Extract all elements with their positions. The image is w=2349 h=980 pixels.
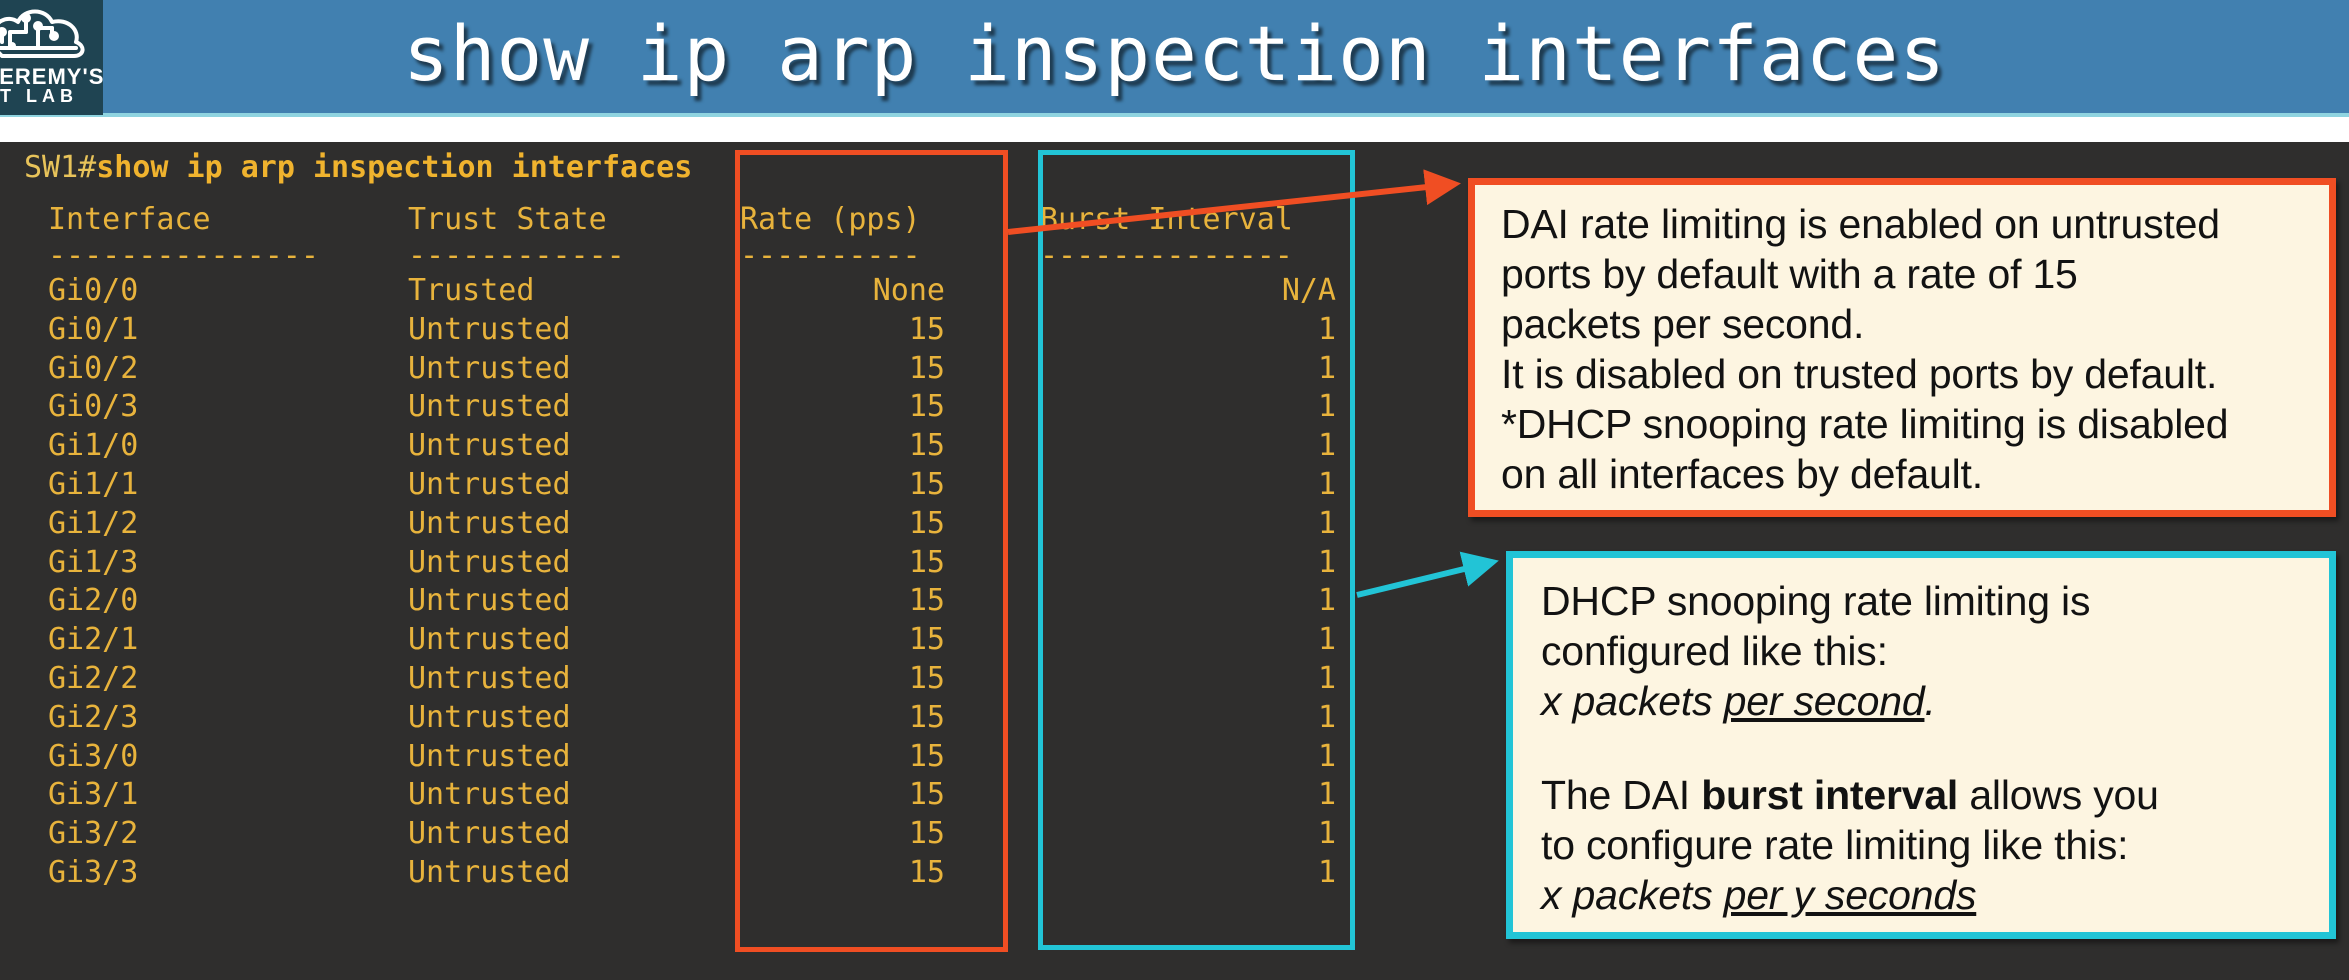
cell-interface: Gi0/3 bbox=[48, 392, 348, 422]
callout-dai-line-3: packets per second. bbox=[1501, 299, 2305, 349]
cell-rate-pps: 15 bbox=[740, 548, 945, 578]
cell-burst-interval: 1 bbox=[1040, 431, 1336, 461]
cell-burst-interval: 1 bbox=[1040, 586, 1336, 616]
callout-dai-rate-limiting: DAI rate limiting is enabled on untruste… bbox=[1468, 178, 2336, 517]
cell-burst-interval: N/A bbox=[1040, 276, 1336, 306]
column-header-interface: Interface bbox=[48, 202, 348, 237]
callout-dhcp-line-3-prefix: x packets bbox=[1541, 678, 1724, 724]
cell-burst-interval: 1 bbox=[1040, 819, 1336, 849]
callout-dhcp-line-3-suffix: . bbox=[1924, 678, 1935, 724]
cell-interface: Gi3/3 bbox=[48, 858, 348, 888]
cell-rate-pps: 15 bbox=[740, 742, 945, 772]
cell-interface: Gi3/1 bbox=[48, 780, 348, 810]
cell-burst-interval: 1 bbox=[1040, 548, 1336, 578]
cell-burst-interval: 1 bbox=[1040, 664, 1336, 694]
cell-interface: Gi1/0 bbox=[48, 431, 348, 461]
cell-burst-interval: 1 bbox=[1040, 509, 1336, 539]
callout-dai-line-6: on all interfaces by default. bbox=[1501, 449, 2305, 499]
cell-trust-state: Trusted bbox=[408, 276, 728, 306]
cell-trust-state: Untrusted bbox=[408, 780, 728, 810]
cell-rate-pps: 15 bbox=[740, 819, 945, 849]
cell-interface: Gi2/1 bbox=[48, 625, 348, 655]
callout-dai-line-4: It is disabled on trusted ports by defau… bbox=[1501, 349, 2305, 399]
column-separator-trust-state: ------------ bbox=[408, 238, 728, 273]
cell-burst-interval: 1 bbox=[1040, 703, 1336, 733]
cell-interface: Gi0/2 bbox=[48, 354, 348, 384]
cell-burst-interval: 1 bbox=[1040, 858, 1336, 888]
callout-dhcp-line-1: DHCP snooping rate limiting is bbox=[1541, 576, 2305, 626]
callout-dhcp-line-6-prefix: x packets bbox=[1541, 872, 1724, 918]
column-separator-rate-pps: ---------- bbox=[740, 238, 945, 273]
cell-burst-interval: 1 bbox=[1040, 625, 1336, 655]
cell-rate-pps: 15 bbox=[740, 625, 945, 655]
cell-burst-interval: 1 bbox=[1040, 354, 1336, 384]
callout-dai-line-1: DAI rate limiting is enabled on untruste… bbox=[1501, 199, 2305, 249]
callout-dhcp-line-2: configured like this: bbox=[1541, 626, 2305, 676]
callout-dhcp-line-3-emphasis: per second bbox=[1724, 678, 1925, 724]
callout-dhcp-line-4-emphasis: burst interval bbox=[1701, 772, 1958, 818]
cell-trust-state: Untrusted bbox=[408, 470, 728, 500]
header-underline bbox=[0, 113, 2349, 117]
callout-dhcp-line-5: to configure rate limiting like this: bbox=[1541, 820, 2305, 870]
callout-dhcp-paragraph-gap bbox=[1541, 726, 2305, 770]
page-title: show ip arp inspection interfaces bbox=[0, 0, 2349, 113]
column-header-rate-pps: Rate (pps) bbox=[740, 202, 945, 237]
cell-trust-state: Untrusted bbox=[408, 625, 728, 655]
cell-rate-pps: 15 bbox=[740, 586, 945, 616]
cell-rate-pps: 15 bbox=[740, 780, 945, 810]
cell-rate-pps: 15 bbox=[740, 664, 945, 694]
callout-dhcp-line-4: The DAI burst interval allows you bbox=[1541, 770, 2305, 820]
cell-trust-state: Untrusted bbox=[408, 431, 728, 461]
cell-burst-interval: 1 bbox=[1040, 780, 1336, 810]
cell-trust-state: Untrusted bbox=[408, 586, 728, 616]
cell-rate-pps: 15 bbox=[740, 315, 945, 345]
cell-rate-pps: None bbox=[740, 276, 945, 306]
callout-dhcp-snooping-rate-limiting: DHCP snooping rate limiting is configure… bbox=[1506, 551, 2336, 939]
cell-interface: Gi0/1 bbox=[48, 315, 348, 345]
cell-interface: Gi1/2 bbox=[48, 509, 348, 539]
cell-rate-pps: 15 bbox=[740, 431, 945, 461]
cell-rate-pps: 15 bbox=[740, 703, 945, 733]
cell-trust-state: Untrusted bbox=[408, 315, 728, 345]
cell-burst-interval: 1 bbox=[1040, 470, 1336, 500]
cell-burst-interval: 1 bbox=[1040, 315, 1336, 345]
cell-trust-state: Untrusted bbox=[408, 819, 728, 849]
cell-trust-state: Untrusted bbox=[408, 858, 728, 888]
cell-interface: Gi0/0 bbox=[48, 276, 348, 306]
cell-burst-interval: 1 bbox=[1040, 392, 1336, 422]
cell-interface: Gi3/2 bbox=[48, 819, 348, 849]
callout-dhcp-line-4-suffix: allows you bbox=[1958, 772, 2159, 818]
callout-dhcp-line-3: x packets per second. bbox=[1541, 676, 2305, 726]
column-header-trust-state: Trust State bbox=[408, 202, 728, 237]
callout-dai-line-2: ports by default with a rate of 15 bbox=[1501, 249, 2305, 299]
cell-rate-pps: 15 bbox=[740, 354, 945, 384]
cell-interface: Gi1/1 bbox=[48, 470, 348, 500]
terminal-command: show ip arp inspection interfaces bbox=[96, 150, 692, 185]
column-header-burst-interval: Burst Interval bbox=[1040, 202, 1336, 237]
cell-trust-state: Untrusted bbox=[408, 509, 728, 539]
cell-burst-interval: 1 bbox=[1040, 742, 1336, 772]
terminal-hostname: SW1# bbox=[24, 150, 96, 185]
terminal-prompt-line: SW1#show ip arp inspection interfaces bbox=[24, 150, 692, 185]
cell-interface: Gi1/3 bbox=[48, 548, 348, 578]
column-separator-burst-interval: -------------- bbox=[1040, 238, 1336, 273]
cell-interface: Gi2/0 bbox=[48, 586, 348, 616]
cell-trust-state: Untrusted bbox=[408, 548, 728, 578]
callout-dhcp-line-6: x packets per y seconds bbox=[1541, 870, 2305, 920]
cell-interface: Gi2/2 bbox=[48, 664, 348, 694]
cell-trust-state: Untrusted bbox=[408, 354, 728, 384]
callout-dhcp-line-4-prefix: The DAI bbox=[1541, 772, 1701, 818]
cell-interface: Gi3/0 bbox=[48, 742, 348, 772]
cell-rate-pps: 15 bbox=[740, 392, 945, 422]
cell-trust-state: Untrusted bbox=[408, 742, 728, 772]
column-separator-interface: --------------- bbox=[48, 238, 348, 273]
cell-trust-state: Untrusted bbox=[408, 392, 728, 422]
cell-trust-state: Untrusted bbox=[408, 703, 728, 733]
callout-dhcp-line-6-emphasis: per y seconds bbox=[1724, 872, 1977, 918]
cell-trust-state: Untrusted bbox=[408, 664, 728, 694]
cell-interface: Gi2/3 bbox=[48, 703, 348, 733]
cell-rate-pps: 15 bbox=[740, 858, 945, 888]
cell-rate-pps: 15 bbox=[740, 470, 945, 500]
callout-dai-line-5: *DHCP snooping rate limiting is disabled bbox=[1501, 399, 2305, 449]
cell-rate-pps: 15 bbox=[740, 509, 945, 539]
